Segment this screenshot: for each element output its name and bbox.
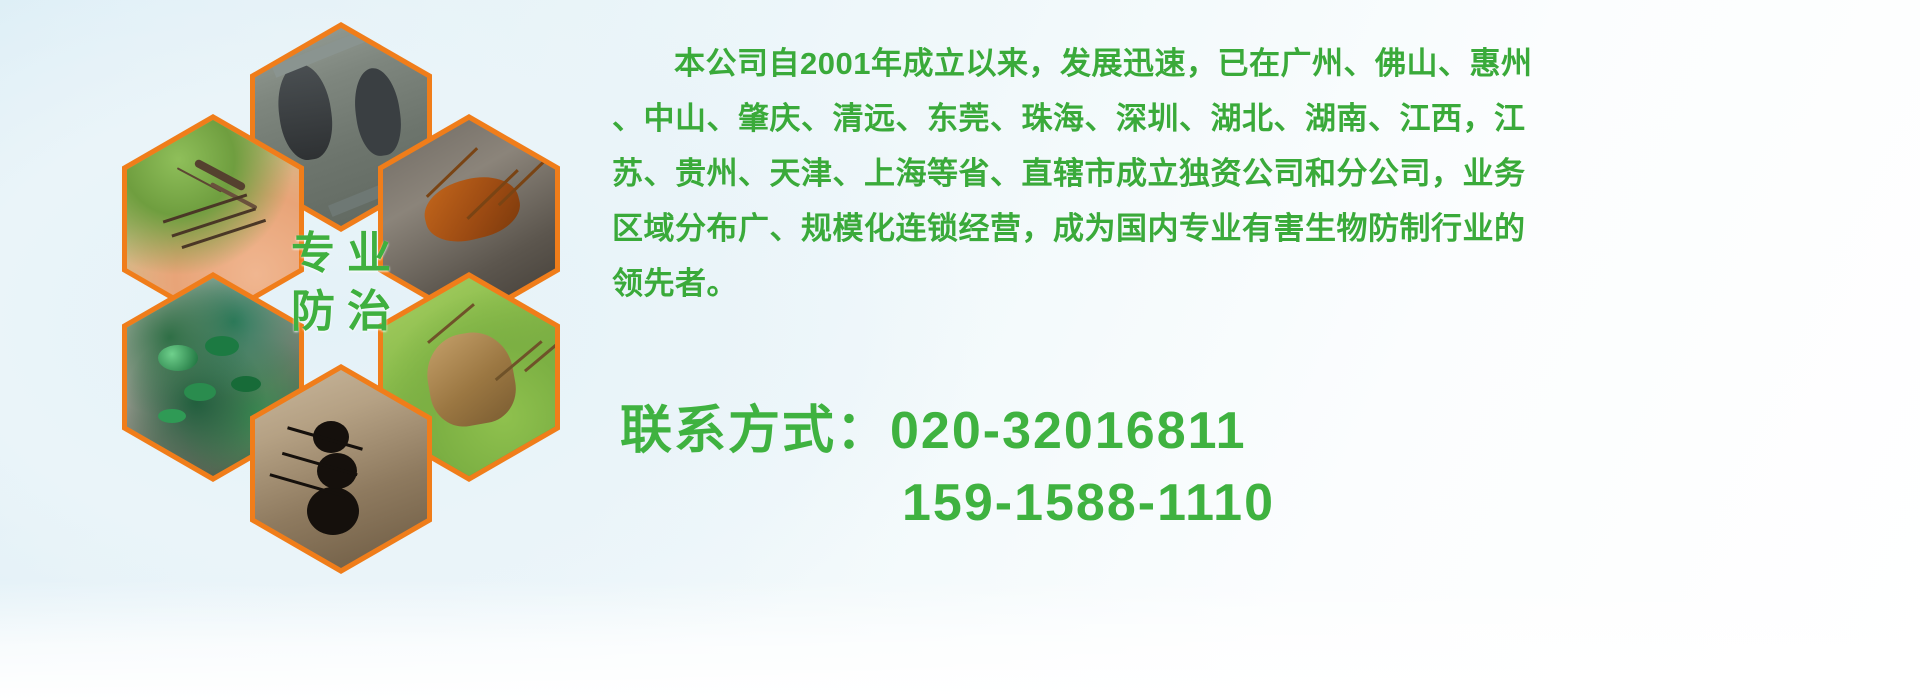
hexagon-photo-collage: 专业 防治 xyxy=(90,8,590,568)
contact-block: 联系方式：020-32016811 159-1588-1110 xyxy=(620,395,1275,539)
company-intro-text: 本公司自2001年成立以来，发展迅速，已在广州、佛山、惠州 、中山、肇庆、清远、… xyxy=(612,36,1912,311)
ant-photo xyxy=(255,370,427,568)
center-label-line-2: 防治 xyxy=(279,288,403,336)
phone-secondary[interactable]: 159-1588-1110 xyxy=(902,474,1275,532)
intro-line-3: 苏、贵州、天津、上海等省、直辖市成立独资公司和分公司，业务 xyxy=(612,146,1912,201)
intro-line-5: 领先者。 xyxy=(612,256,1912,311)
intro-paragraph: 本公司自2001年成立以来，发展迅速，已在广州、佛山、惠州 、中山、肇庆、清远、… xyxy=(612,36,1912,311)
phone-primary[interactable]: 020-32016811 xyxy=(890,402,1247,460)
center-label-line-1: 专业 xyxy=(279,230,403,278)
intro-line-2: 、中山、肇庆、清远、东莞、珠海、深圳、湖北、湖南、江西，江 xyxy=(612,91,1912,146)
contact-secondary-line: 159-1588-1110 xyxy=(620,467,1275,539)
intro-line-1: 本公司自2001年成立以来，发展迅速，已在广州、佛山、惠州 xyxy=(612,36,1912,91)
contact-primary-line: 联系方式：020-32016811 xyxy=(620,395,1275,467)
promo-banner: 专业 防治 本公司自2001年成立以来，发展迅速，已在广州、佛山、惠州 、中山、… xyxy=(0,0,1920,700)
hex-image-frame xyxy=(255,370,427,568)
contact-label: 联系方式： xyxy=(620,402,890,460)
collage-center-label: 专业 防治 xyxy=(250,178,432,388)
intro-line-4: 区域分布广、规模化连锁经营，成为国内专业有害生物防制行业的 xyxy=(612,201,1912,256)
